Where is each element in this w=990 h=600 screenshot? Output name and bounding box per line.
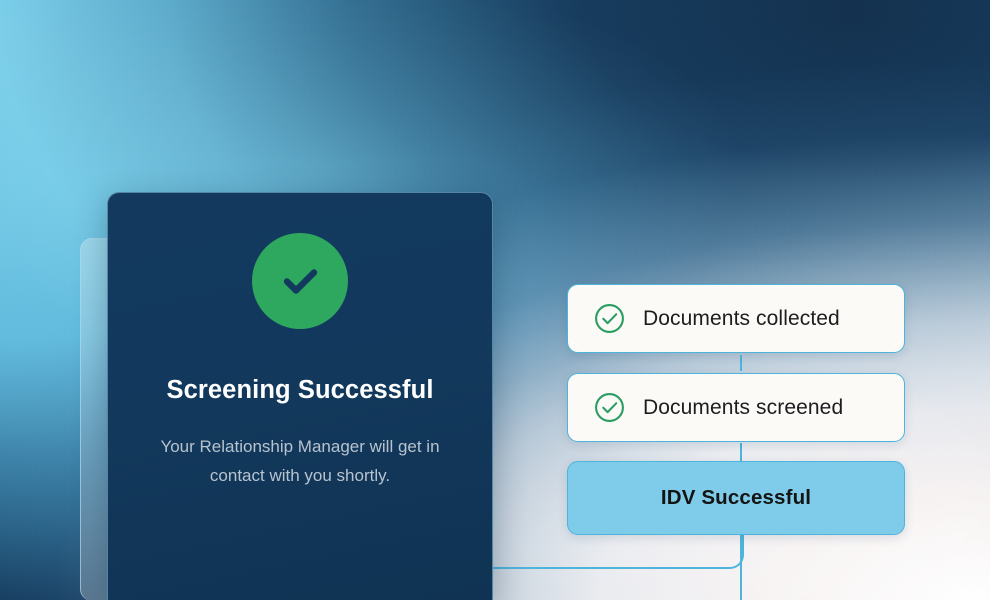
result-description: Your Relationship Manager will get in co… — [150, 432, 450, 490]
check-circle-outline-icon — [594, 392, 625, 423]
check-circle-filled-icon — [252, 233, 348, 329]
progress-step-documents-collected[interactable]: Documents collected — [567, 284, 905, 353]
screening-result-card: Screening Successful Your Relationship M… — [107, 192, 493, 600]
screening-result-screen: Screening Successful Your Relationship M… — [0, 0, 990, 600]
connector-line-step1-step2 — [740, 355, 742, 371]
progress-step-idv-successful[interactable]: IDV Successful — [567, 461, 905, 535]
progress-step-label: IDV Successful — [661, 486, 811, 510]
page-title: Screening Successful — [166, 375, 433, 406]
connector-elbow-to-main-card — [493, 531, 744, 569]
progress-step-label: Documents screened — [643, 396, 843, 420]
progress-step-documents-screened[interactable]: Documents screened — [567, 373, 905, 442]
progress-step-label: Documents collected — [643, 307, 840, 331]
check-circle-outline-icon — [594, 303, 625, 334]
connector-line-step2-step3 — [740, 443, 742, 463]
